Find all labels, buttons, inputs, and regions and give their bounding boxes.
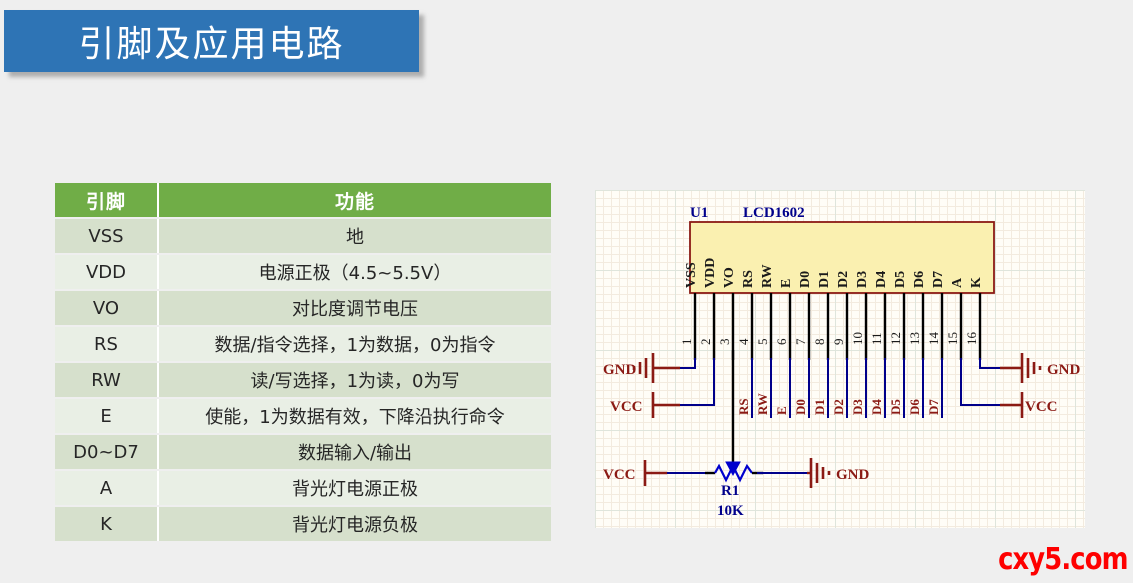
table-row: VO对比度调节电压 [55, 291, 551, 325]
cell-pin: RW [55, 363, 159, 397]
ic-pin-leads [695, 293, 980, 360]
vcc-label-left: VCC [610, 399, 643, 415]
vcc-label-potentiometer: VCC [603, 467, 636, 483]
column-header-pin: 引脚 [55, 183, 159, 217]
net-label: D4 [869, 399, 884, 415]
net-label: RS [736, 398, 751, 415]
ic-pin-number: 6 [774, 338, 789, 345]
potentiometer-value-label: 10K [717, 503, 744, 519]
table-row: D0~D7数据输入/输出 [55, 435, 551, 469]
ic-pin-number: 9 [831, 339, 846, 346]
net-label: D5 [888, 399, 903, 415]
gnd-label-potentiometer: GND [836, 467, 870, 483]
table-row: E使能，1为数据有效，下降沿执行命令 [55, 399, 551, 433]
site-watermark: cxy5.com [998, 542, 1128, 577]
cell-pin: K [55, 507, 159, 541]
net-label: D3 [850, 399, 865, 415]
ic-pin-name: E [779, 279, 794, 288]
ic-pin-number: 4 [736, 338, 751, 345]
cell-pin: D0~D7 [55, 435, 159, 469]
vcc-symbol-potentiometer [645, 460, 667, 486]
gnd-symbol-right [1000, 353, 1040, 383]
cell-function: 背光灯电源负极 [159, 507, 551, 541]
pin-function-table: 引脚 功能 VSS地 VDD电源正极（4.5~5.5V） VO对比度调节电压 R… [55, 181, 551, 543]
page-title: 引脚及应用电路 [78, 15, 344, 67]
cell-pin: VO [55, 291, 159, 325]
table-header-row: 引脚 功能 [55, 183, 551, 217]
ic-pin-number: 10 [850, 332, 865, 345]
cell-pin: A [55, 471, 159, 505]
ic-pin-name: D7 [931, 271, 946, 288]
table-row: VSS地 [55, 219, 551, 253]
gnd-label-right: GND [1047, 362, 1081, 378]
potentiometer-designator-label: R1 [721, 483, 739, 499]
ic-pin-name: A [950, 277, 965, 288]
net-label-group: RSRWED0D1D2D3D4D5D6D7 [736, 393, 941, 415]
cell-pin: VSS [55, 219, 159, 253]
ic-pin-number: 11 [869, 332, 884, 345]
gnd-label-left: GND [603, 362, 637, 378]
cell-function: 使能，1为数据有效，下降沿执行命令 [159, 399, 551, 433]
ic-pin-number: 14 [926, 332, 941, 346]
ic-pin-name: VDD [703, 258, 718, 288]
ic-pin-number: 16 [964, 332, 979, 346]
cell-function: 数据输入/输出 [159, 435, 551, 469]
ic-pin-number: 7 [793, 338, 808, 345]
table-row: VDD电源正极（4.5~5.5V） [55, 255, 551, 289]
gnd-symbol-potentiometer [807, 458, 829, 488]
ic-pin-name: D1 [817, 271, 832, 288]
cell-function: 对比度调节电压 [159, 291, 551, 325]
ic-pin-name: D6 [912, 271, 927, 288]
slide-title-banner: 引脚及应用电路 [4, 10, 419, 72]
net-label: RW [755, 393, 770, 415]
cell-function: 读/写选择，1为读，0为写 [159, 363, 551, 397]
ic-pin-name: VSS [684, 262, 699, 288]
ic-pin-number: 1 [679, 339, 694, 346]
ic-pin-number: 12 [888, 332, 903, 345]
net-label: D1 [812, 399, 827, 415]
net-label: D6 [907, 399, 922, 415]
cell-pin: VDD [55, 255, 159, 289]
ic-part-name-label: LCD1602 [743, 205, 805, 221]
cell-function: 背光灯电源正极 [159, 471, 551, 505]
ic-pin-number: 15 [945, 332, 960, 345]
cell-pin: RS [55, 327, 159, 361]
ic-pin-name: RW [760, 264, 775, 288]
ic-pin-number: 8 [812, 339, 827, 346]
ic-pin-name: RS [741, 270, 756, 288]
table-row: K背光灯电源负极 [55, 507, 551, 541]
vcc-symbol-right [1000, 392, 1022, 418]
schematic-drawing: U1 LCD1602 VSSVDDVORSRWED0D1D2D3D4D5D6D7… [595, 190, 1085, 528]
table-row: RW读/写选择，1为读，0为写 [55, 363, 551, 397]
ic-pin-number: 2 [698, 339, 713, 346]
ic-pin-number: 3 [717, 339, 732, 346]
ic-pin-name: K [969, 277, 984, 288]
net-label: D0 [793, 399, 808, 415]
ic-pin-name: D3 [855, 271, 870, 288]
cell-function: 数据/指令选择，1为数据，0为指令 [159, 327, 551, 361]
table-row: A背光灯电源正极 [55, 471, 551, 505]
cell-pin: E [55, 399, 159, 433]
net-label: D2 [831, 399, 846, 415]
ic-pin-name: D4 [874, 271, 889, 288]
net-label: E [774, 406, 789, 415]
ic-pin-name: VO [722, 267, 737, 288]
vcc-symbol-left [653, 392, 680, 418]
table-row: RS数据/指令选择，1为数据，0为指令 [55, 327, 551, 361]
cell-function: 电源正极（4.5~5.5V） [159, 255, 551, 289]
cell-function: 地 [159, 219, 551, 253]
gnd-symbol-left [634, 353, 680, 383]
ic-pin-name: D5 [893, 271, 908, 288]
column-header-function: 功能 [159, 183, 551, 217]
ic-designator-label: U1 [690, 205, 708, 221]
ic-pin-number: 13 [907, 332, 922, 345]
ic-pin-name: D0 [798, 271, 813, 288]
ic-pin-number: 5 [755, 339, 770, 346]
lcd1602-application-circuit-schematic: U1 LCD1602 VSSVDDVORSRWED0D1D2D3D4D5D6D7… [595, 190, 1085, 528]
net-label: D7 [926, 399, 941, 415]
vcc-label-right: VCC [1025, 399, 1058, 415]
ic-pin-name: D2 [836, 271, 851, 288]
